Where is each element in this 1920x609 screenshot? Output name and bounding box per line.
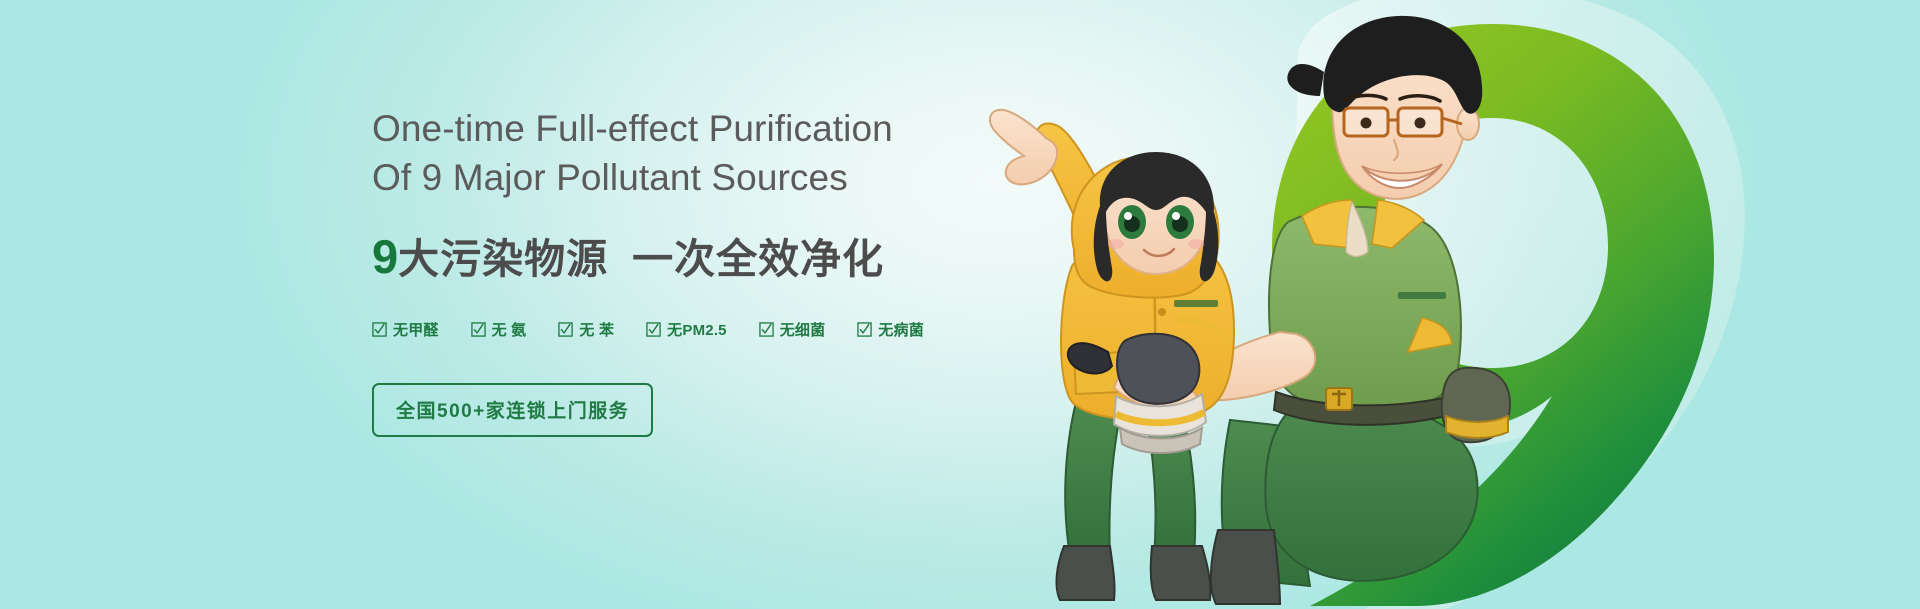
feature-label: 无病菌 bbox=[878, 319, 924, 340]
checkbox-checked-icon bbox=[646, 322, 661, 337]
checkbox-checked-icon bbox=[558, 322, 573, 337]
checkbox-checked-icon bbox=[471, 322, 486, 337]
feature-label: 无PM2.5 bbox=[667, 319, 727, 340]
nationwide-service-button[interactable]: 全国500+家连锁上门服务 bbox=[372, 383, 653, 437]
feature-list: 无甲醛 无 氨 无 苯 bbox=[372, 319, 1012, 340]
feature-item: 无 氨 bbox=[471, 319, 527, 340]
chinese-headline: 9大污染物源一次全效净化 bbox=[372, 229, 1012, 285]
feature-item: 无病菌 bbox=[857, 319, 924, 340]
checkbox-checked-icon bbox=[857, 322, 872, 337]
feature-item: 无PM2.5 bbox=[646, 319, 727, 340]
checkbox-checked-icon bbox=[759, 322, 774, 337]
checkbox-checked-icon bbox=[372, 322, 387, 337]
feature-item: 无细菌 bbox=[759, 319, 826, 340]
chinese-headline-part-2: 一次全效净化 bbox=[632, 236, 884, 282]
feature-label: 无 氨 bbox=[492, 319, 527, 340]
english-headline-line-2: Of 9 Major Pollutant Sources bbox=[372, 154, 1012, 203]
feature-item: 无甲醛 bbox=[372, 319, 439, 340]
chinese-headline-part-1: 大污染物源 bbox=[398, 236, 608, 282]
promotional-banner: One-time Full-effect Purification Of 9 M… bbox=[0, 0, 1920, 609]
feature-label: 无 苯 bbox=[579, 319, 614, 340]
english-headline: One-time Full-effect Purification Of 9 M… bbox=[372, 105, 1012, 203]
chinese-headline-number: 9 bbox=[372, 230, 398, 283]
feature-label: 无甲醛 bbox=[393, 319, 439, 340]
feature-label: 无细菌 bbox=[780, 319, 826, 340]
family-illustration bbox=[990, 16, 1510, 604]
english-headline-line-1: One-time Full-effect Purification bbox=[372, 105, 1012, 154]
banner-text-column: One-time Full-effect Purification Of 9 M… bbox=[372, 105, 1012, 437]
feature-item: 无 苯 bbox=[558, 319, 614, 340]
hero-illustration bbox=[980, 0, 1920, 609]
